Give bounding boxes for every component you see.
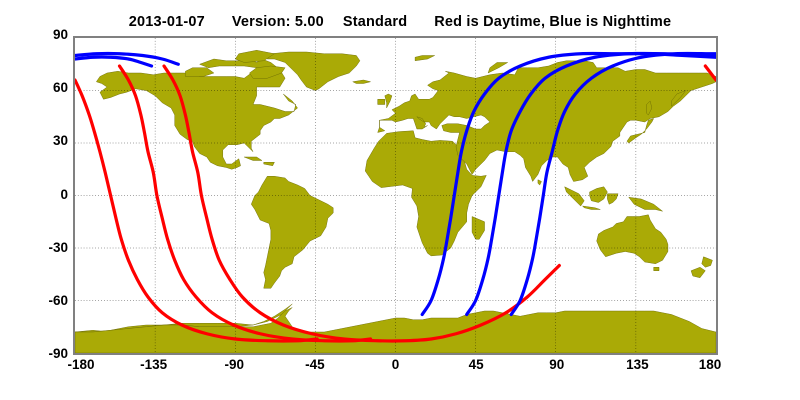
landmass-tasmania bbox=[654, 267, 659, 271]
landmass-newguinea bbox=[629, 197, 663, 211]
y-tick-label-90: 90 bbox=[24, 27, 68, 42]
y-tick-label-0: 0 bbox=[24, 187, 68, 202]
map-svg bbox=[75, 38, 716, 353]
y-tick-label-m60: -60 bbox=[24, 293, 68, 308]
landmass-java bbox=[582, 206, 600, 210]
landmass-madagascar bbox=[472, 217, 484, 240]
x-tick-label-m135: -135 bbox=[124, 357, 184, 372]
figure-root: 2013-01-07 Version: 5.00 Standard Red is… bbox=[0, 0, 800, 400]
x-tick-label-180: 180 bbox=[680, 357, 740, 372]
landmass-svalbard bbox=[415, 56, 435, 61]
landmass-south-america bbox=[251, 176, 333, 288]
title-version: Version: 5.00 bbox=[232, 14, 324, 30]
x-tick-label-135: 135 bbox=[607, 357, 667, 372]
landmass-sumatra bbox=[565, 187, 585, 206]
x-tick-label-0: 0 bbox=[366, 357, 426, 372]
x-tick-label-m90: -90 bbox=[204, 357, 264, 372]
landmass-hispaniola bbox=[264, 162, 275, 166]
landmass-britain bbox=[385, 94, 392, 108]
landmass-antarctica-main bbox=[75, 308, 716, 354]
landmass-ellesmere bbox=[235, 50, 274, 62]
landmass-srilanka bbox=[538, 180, 542, 185]
land-masses bbox=[75, 50, 716, 353]
landmass-borneo bbox=[590, 187, 608, 203]
title-date: 2013-01-07 bbox=[129, 14, 205, 30]
title-legend: Red is Daytime, Blue is Nighttime bbox=[434, 14, 671, 30]
y-tick-label-30: 30 bbox=[24, 133, 68, 148]
x-tick-label-45: 45 bbox=[446, 357, 506, 372]
map-plot-area bbox=[73, 36, 718, 355]
title-mode: Standard bbox=[343, 14, 407, 30]
ground-track-5 bbox=[75, 57, 152, 66]
landmass-japan bbox=[627, 119, 654, 144]
landmass-ireland bbox=[378, 99, 385, 104]
x-tick-label-m45: -45 bbox=[285, 357, 345, 372]
landmass-australia bbox=[597, 215, 668, 264]
x-tick-label-90: 90 bbox=[527, 357, 587, 372]
x-tick-label-m180: -180 bbox=[51, 357, 111, 372]
landmass-cuba bbox=[244, 157, 262, 161]
landmass-victoria bbox=[185, 68, 213, 77]
landmass-newzealand-s bbox=[691, 267, 705, 278]
landmass-novaya bbox=[488, 63, 508, 74]
y-tick-label-60: 60 bbox=[24, 80, 68, 95]
chart-title: 2013-01-07 Version: 5.00 Standard Red is… bbox=[0, 13, 800, 31]
landmass-iceland bbox=[353, 80, 371, 84]
y-tick-label-m30: -30 bbox=[24, 240, 68, 255]
landmass-newzealand-n bbox=[702, 257, 713, 268]
